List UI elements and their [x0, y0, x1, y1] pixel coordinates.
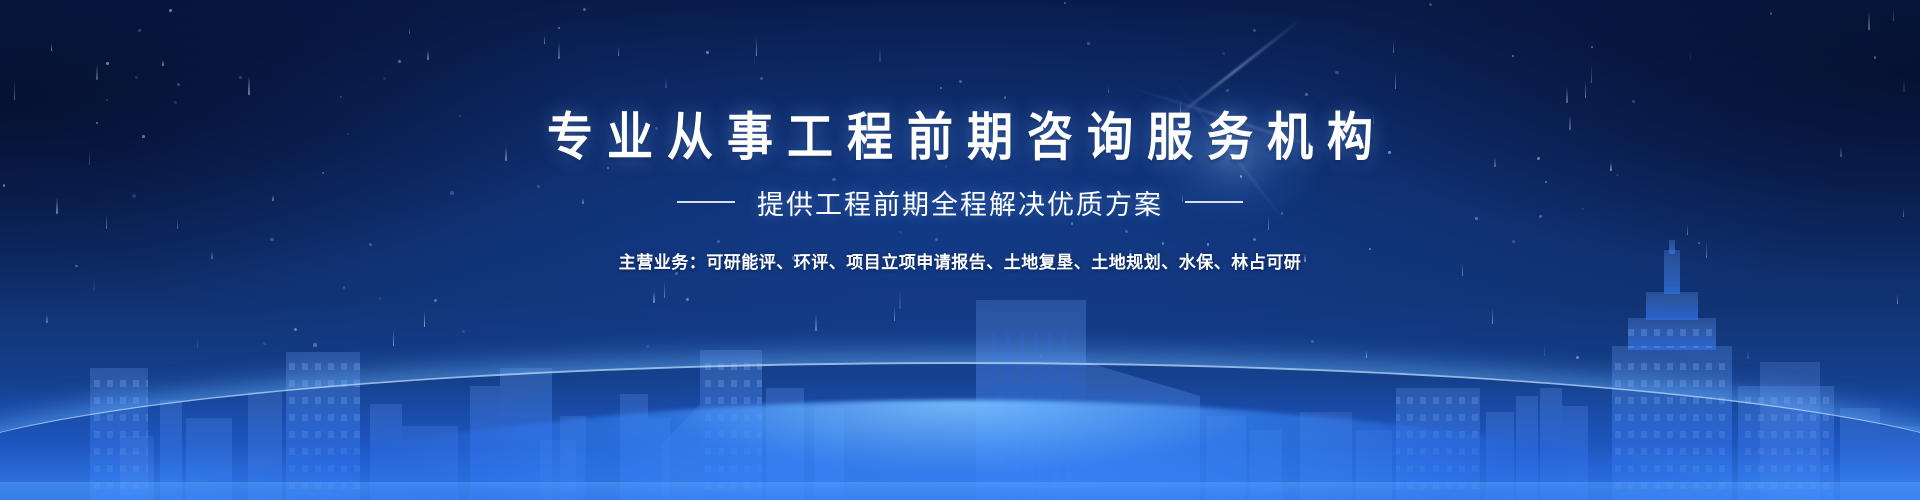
left-dash-icon [677, 201, 735, 203]
banner-subtitle: 提供工程前期全程解决优质方案 [757, 183, 1163, 222]
right-dash-icon [1185, 201, 1243, 203]
hero-banner: 专业从事工程前期咨询服务机构 提供工程前期全程解决优质方案 主营业务：可研能评、… [0, 0, 1920, 500]
page-title: 专业从事工程前期咨询服务机构 [533, 108, 1387, 167]
banner-content: 专业从事工程前期咨询服务机构 提供工程前期全程解决优质方案 主营业务：可研能评、… [0, 0, 1920, 500]
services-list: 主营业务：可研能评、环评、项目立项申请报告、土地复垦、土地规划、水保、林占可研 [619, 248, 1302, 273]
subtitle-row: 提供工程前期全程解决优质方案 [677, 183, 1243, 222]
